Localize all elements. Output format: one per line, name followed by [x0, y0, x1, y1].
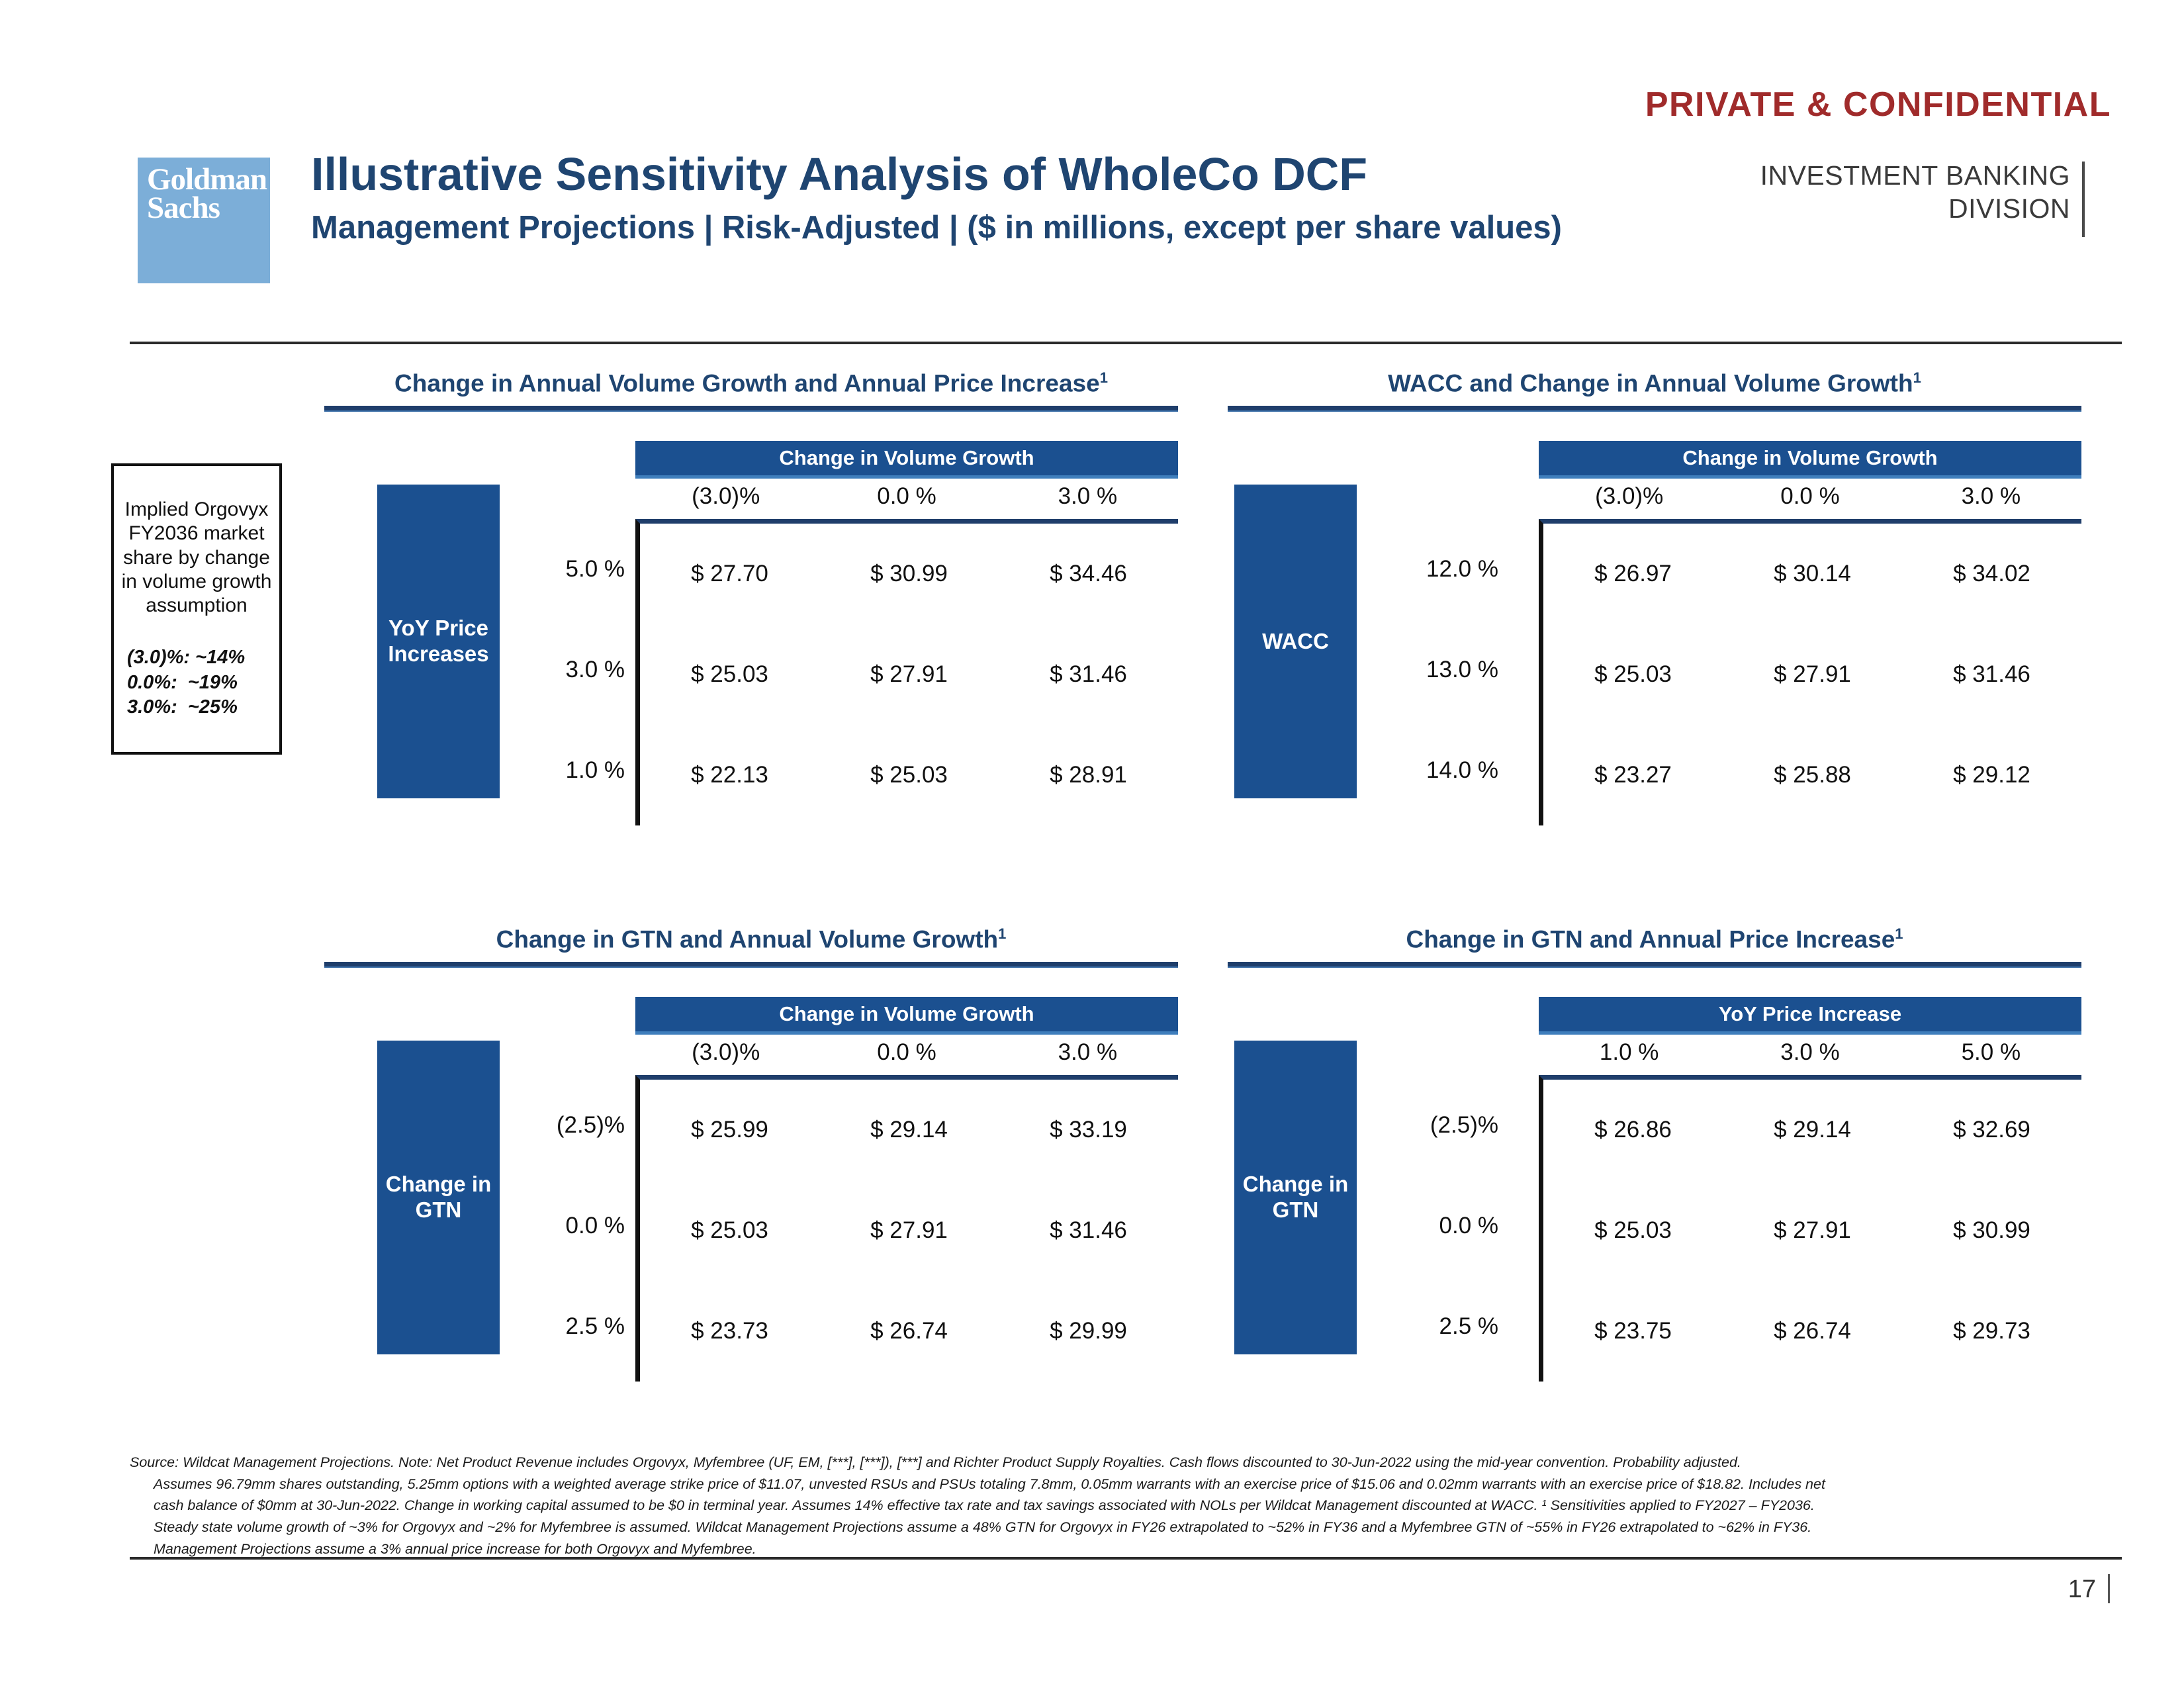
table-cell: $ 34.02: [1902, 561, 2081, 587]
sensitivity-panel-wacc-volume: WACC and Change in Annual Volume Growth1…: [1228, 371, 2081, 798]
table-cell: $ 29.73: [1902, 1318, 2081, 1344]
page-number-divider: [2108, 1574, 2110, 1603]
sensitivity-panel-gtn-price: Change in GTN and Annual Price Increase1…: [1228, 927, 2081, 1354]
table-cell: $ 25.03: [1543, 661, 1723, 688]
table-row: $ 27.70 $ 30.99 $ 34.46: [640, 524, 1178, 624]
column-header: 5.0 %: [1901, 1039, 2081, 1066]
table-row: $ 23.27 $ 25.88 $ 29.12: [1543, 725, 2081, 825]
column-header: 3.0 %: [997, 1039, 1178, 1066]
table-row: $ 25.03 $ 27.91 $ 30.99: [1543, 1180, 2081, 1281]
column-headers: 1.0 % 3.0 % 5.0 %: [1539, 1039, 2081, 1066]
slide-header: PRIVATE & CONFIDENTIAL Goldman Sachs Ill…: [0, 0, 2184, 311]
column-header: (3.0)%: [635, 1039, 816, 1066]
footnote-line: Source: Wildcat Management Projections. …: [130, 1452, 2122, 1474]
footnotes: Source: Wildcat Management Projections. …: [130, 1452, 2122, 1560]
table-cell: $ 27.91: [1723, 661, 1902, 688]
table-cell: $ 27.91: [819, 1217, 999, 1244]
column-header: 3.0 %: [1901, 483, 2081, 510]
footnote-line: cash balance of $0mm at 30-Jun-2022. Cha…: [130, 1495, 2122, 1517]
panel-title-text: Change in GTN and Annual Volume Growth: [496, 925, 999, 953]
table-cell: $ 33.19: [999, 1117, 1178, 1143]
table-cell: $ 27.91: [819, 661, 999, 688]
division-line-1: INVESTMENT BANKING: [1714, 159, 2070, 192]
table-cell: $ 25.03: [640, 661, 819, 688]
table-cell: $ 29.99: [999, 1318, 1178, 1344]
table-cell: $ 26.86: [1543, 1117, 1723, 1143]
table-cell: $ 26.97: [1543, 561, 1723, 587]
column-header: 1.0 %: [1539, 1039, 1719, 1066]
sensitivity-table: WACC Change in Volume Growth (3.0)% 0.0 …: [1228, 441, 2081, 798]
footer-divider: [130, 1557, 2122, 1560]
logo-line-2: Sachs: [147, 191, 220, 225]
page-number-value: 17: [2068, 1575, 2096, 1603]
table-cell: $ 23.75: [1543, 1318, 1723, 1344]
row-header: 2.5 %: [1393, 1276, 1502, 1377]
table-row: $ 25.03 $ 27.91 $ 31.46: [1543, 624, 2081, 725]
column-header: 3.0 %: [997, 483, 1178, 510]
table-cell: $ 30.14: [1723, 561, 1902, 587]
row-group-label: YoY Price Increases: [377, 485, 500, 798]
row-headers: (2.5)% 0.0 % 2.5 %: [1393, 1075, 1502, 1377]
panel-divider: [1228, 962, 2081, 968]
page-subtitle: Management Projections | Risk-Adjusted |…: [311, 212, 1707, 244]
page-number: 17: [2068, 1574, 2110, 1604]
table-cell: $ 29.12: [1902, 762, 2081, 788]
row-headers: 12.0 % 13.0 % 14.0 %: [1393, 519, 1502, 821]
column-header: 3.0 %: [1719, 1039, 1900, 1066]
table-cell: $ 31.46: [1902, 661, 2081, 688]
sensitivity-table: YoY Price Increases Change in Volume Gro…: [324, 441, 1178, 798]
panel-title-text: WACC and Change in Annual Volume Growth: [1388, 369, 1913, 397]
value-matrix: $ 26.97 $ 30.14 $ 34.02 $ 25.03 $ 27.91 …: [1539, 519, 2081, 825]
value-matrix: $ 26.86 $ 29.14 $ 32.69 $ 25.03 $ 27.91 …: [1539, 1075, 2081, 1382]
table-row: $ 25.03 $ 27.91 $ 31.46: [640, 624, 1178, 725]
table-cell: $ 25.99: [640, 1117, 819, 1143]
goldman-sachs-logo: Goldman Sachs: [138, 158, 270, 283]
table-row: $ 25.99 $ 29.14 $ 33.19: [640, 1080, 1178, 1180]
column-group-header: Change in Volume Growth: [635, 441, 1178, 479]
panel-title: WACC and Change in Annual Volume Growth1: [1228, 371, 2081, 395]
table-cell: $ 22.13: [640, 762, 819, 788]
row-header: (2.5)%: [1393, 1075, 1502, 1176]
table-cell: $ 30.99: [819, 561, 999, 587]
panel-title-footnote-marker: 1: [1913, 369, 1921, 386]
division-line-2: DIVISION: [1714, 192, 2070, 225]
table-row: $ 23.73 $ 26.74 $ 29.99: [640, 1281, 1178, 1382]
table-cell: $ 28.91: [999, 762, 1178, 788]
column-headers: (3.0)% 0.0 % 3.0 %: [635, 483, 1178, 510]
table-cell: $ 32.69: [1902, 1117, 2081, 1143]
table-row: $ 25.03 $ 27.91 $ 31.46: [640, 1180, 1178, 1281]
row-group-label: WACC: [1234, 485, 1357, 798]
column-header: (3.0)%: [1539, 483, 1719, 510]
table-cell: $ 31.46: [999, 661, 1178, 688]
panel-title-footnote-marker: 1: [998, 925, 1006, 942]
row-header: 2.5 %: [520, 1276, 629, 1377]
footnote-line: Steady state volume growth of ~3% for Or…: [130, 1517, 2122, 1538]
table-row: $ 22.13 $ 25.03 $ 28.91: [640, 725, 1178, 825]
table-cell: $ 27.91: [1723, 1217, 1902, 1244]
row-header: 5.0 %: [520, 519, 629, 620]
note-text: Implied Orgovyx FY2036 market share by c…: [118, 498, 275, 618]
row-header: 12.0 %: [1393, 519, 1502, 620]
value-matrix: $ 27.70 $ 30.99 $ 34.46 $ 25.03 $ 27.91 …: [635, 519, 1178, 825]
column-headers: (3.0)% 0.0 % 3.0 %: [635, 1039, 1178, 1066]
column-group-header: Change in Volume Growth: [635, 997, 1178, 1035]
table-row: $ 26.97 $ 30.14 $ 34.02: [1543, 524, 2081, 624]
footnote-line: Assumes 96.79mm shares outstanding, 5.25…: [130, 1474, 2122, 1495]
column-group-header: YoY Price Increase: [1539, 997, 2081, 1035]
panel-title-footnote-marker: 1: [1100, 369, 1108, 386]
column-header: 0.0 %: [1719, 483, 1900, 510]
table-cell: $ 27.70: [640, 561, 819, 587]
division-divider: [2082, 162, 2085, 237]
panel-divider: [324, 406, 1178, 412]
value-matrix: $ 25.99 $ 29.14 $ 33.19 $ 25.03 $ 27.91 …: [635, 1075, 1178, 1382]
note-values: (3.0)%: ~14% 0.0%: ~19% 3.0%: ~25%: [118, 645, 275, 719]
column-header: 0.0 %: [816, 1039, 997, 1066]
panel-divider: [324, 962, 1178, 968]
row-header: (2.5)%: [520, 1075, 629, 1176]
sensitivity-panel-volume-price: Change in Annual Volume Growth and Annua…: [324, 371, 1178, 798]
logo-text: Goldman Sachs: [147, 165, 267, 222]
table-cell: $ 26.74: [1723, 1318, 1902, 1344]
row-header: 14.0 %: [1393, 720, 1502, 821]
column-headers: (3.0)% 0.0 % 3.0 %: [1539, 483, 2081, 510]
table-cell: $ 23.73: [640, 1318, 819, 1344]
panel-title-text: Change in Annual Volume Growth and Annua…: [394, 369, 1100, 397]
division-label: INVESTMENT BANKING DIVISION: [1714, 159, 2085, 225]
title-block: Illustrative Sensitivity Analysis of Who…: [311, 151, 1707, 244]
row-headers: 5.0 % 3.0 % 1.0 %: [520, 519, 629, 821]
header-divider: [130, 342, 2122, 344]
sensitivity-table: Change in GTN Change in Volume Growth (3…: [324, 997, 1178, 1354]
table-cell: $ 23.27: [1543, 762, 1723, 788]
panel-title: Change in Annual Volume Growth and Annua…: [324, 371, 1178, 395]
table-cell: $ 25.03: [1543, 1217, 1723, 1244]
sensitivity-table: Change in GTN YoY Price Increase 1.0 % 3…: [1228, 997, 2081, 1354]
implied-market-share-note: Implied Orgovyx FY2036 market share by c…: [111, 463, 282, 755]
row-header: 1.0 %: [520, 720, 629, 821]
table-cell: $ 30.99: [1902, 1217, 2081, 1244]
table-cell: $ 25.03: [640, 1217, 819, 1244]
table-cell: $ 34.46: [999, 561, 1178, 587]
panel-title: Change in GTN and Annual Price Increase1: [1228, 927, 2081, 951]
confidential-marking: PRIVATE & CONFIDENTIAL: [1645, 85, 2111, 124]
panel-title-footnote-marker: 1: [1895, 925, 1903, 942]
column-group-header: Change in Volume Growth: [1539, 441, 2081, 479]
panel-divider: [1228, 406, 2081, 412]
table-cell: $ 29.14: [819, 1117, 999, 1143]
panel-title-text: Change in GTN and Annual Price Increase: [1406, 925, 1895, 953]
sensitivity-panel-gtn-volume: Change in GTN and Annual Volume Growth1 …: [324, 927, 1178, 1354]
row-header: 13.0 %: [1393, 620, 1502, 720]
table-cell: $ 26.74: [819, 1318, 999, 1344]
table-cell: $ 29.14: [1723, 1117, 1902, 1143]
row-group-label: Change in GTN: [377, 1041, 500, 1354]
table-cell: $ 25.03: [819, 762, 999, 788]
row-group-label: Change in GTN: [1234, 1041, 1357, 1354]
table-cell: $ 31.46: [999, 1217, 1178, 1244]
panel-title: Change in GTN and Annual Volume Growth1: [324, 927, 1178, 951]
row-header: 0.0 %: [520, 1176, 629, 1276]
column-header: (3.0)%: [635, 483, 816, 510]
table-row: $ 23.75 $ 26.74 $ 29.73: [1543, 1281, 2081, 1382]
table-cell: $ 25.88: [1723, 762, 1902, 788]
row-headers: (2.5)% 0.0 % 2.5 %: [520, 1075, 629, 1377]
table-row: $ 26.86 $ 29.14 $ 32.69: [1543, 1080, 2081, 1180]
column-header: 0.0 %: [816, 483, 997, 510]
page-title: Illustrative Sensitivity Analysis of Who…: [311, 151, 1707, 197]
row-header: 0.0 %: [1393, 1176, 1502, 1276]
row-header: 3.0 %: [520, 620, 629, 720]
